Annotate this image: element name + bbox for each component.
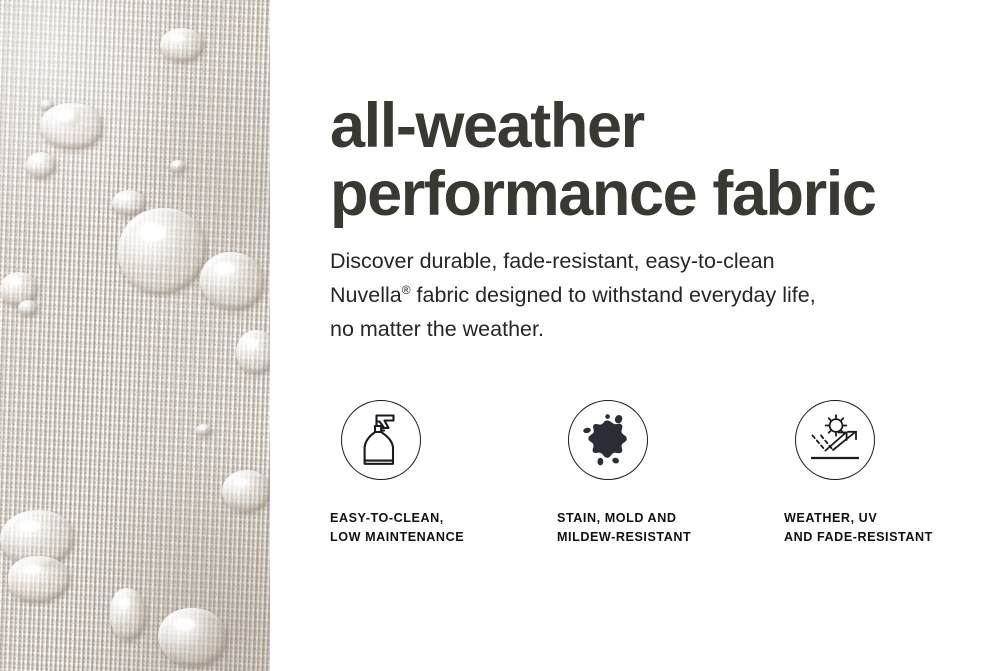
water-droplet xyxy=(26,152,56,178)
spray-bottle-icon xyxy=(353,411,409,469)
water-droplet xyxy=(160,28,204,62)
description-line-3: no matter the weather. xyxy=(330,317,544,341)
water-droplet xyxy=(110,588,146,640)
icon-circle xyxy=(568,400,648,480)
water-droplet xyxy=(40,103,102,149)
feature-caption: STAIN, MOLD AND MILDEW-RESISTANT xyxy=(557,509,784,547)
feature-item-easy-to-clean: EASY-TO-CLEAN, LOW MAINTENANCE xyxy=(330,400,557,547)
icon-circle xyxy=(795,400,875,480)
page-title: all-weather performance fabric xyxy=(330,92,990,228)
water-beading-fabric-photo xyxy=(0,0,270,671)
feature-item-stain-resistant: STAIN, MOLD AND MILDEW-RESISTANT xyxy=(557,400,784,547)
water-droplet xyxy=(196,424,212,436)
water-droplet xyxy=(236,330,270,374)
feature-caption: WEATHER, UV AND FADE-RESISTANT xyxy=(784,509,990,547)
registered-trademark-mark: ® xyxy=(402,283,411,297)
stain-splatter-icon xyxy=(579,411,637,469)
sun-uv-reflect-icon xyxy=(806,412,864,468)
feature-item-weather-uv-resistant: WEATHER, UV AND FADE-RESISTANT xyxy=(784,400,990,547)
brand-name: Nuvella xyxy=(330,283,402,307)
feature-list: EASY-TO-CLEAN, LOW MAINTENANCE xyxy=(330,400,990,547)
description-line-2: fabric designed to withstand everyday li… xyxy=(411,283,816,307)
water-droplet xyxy=(158,608,226,666)
promo-content: all-weather performance fabric Discover … xyxy=(330,0,990,671)
icon-circle xyxy=(341,400,421,480)
water-droplet xyxy=(170,160,186,173)
description-line-1: Discover durable, fade-resistant, easy-t… xyxy=(330,249,775,273)
water-droplet xyxy=(222,470,270,512)
feature-caption: EASY-TO-CLEAN, LOW MAINTENANCE xyxy=(330,509,557,547)
water-droplet xyxy=(8,556,70,602)
water-droplet xyxy=(200,252,264,310)
promo-description: Discover durable, fade-resistant, easy-t… xyxy=(330,244,950,346)
promo-banner: all-weather performance fabric Discover … xyxy=(0,0,1005,671)
water-droplet xyxy=(18,300,38,316)
